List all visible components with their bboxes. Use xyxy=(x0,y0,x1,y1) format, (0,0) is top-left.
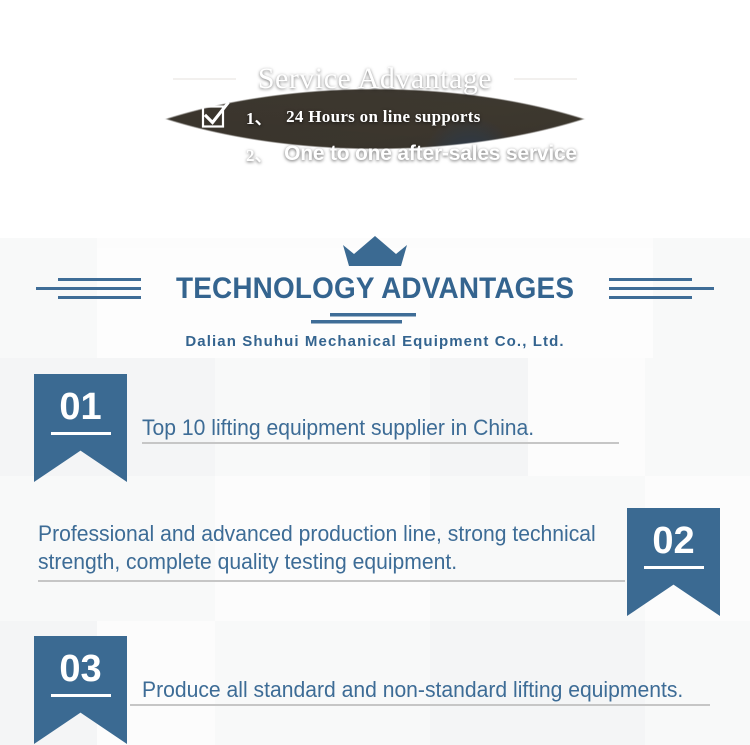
advantage-row: 03 Produce all standard and non-standard… xyxy=(0,628,750,745)
advantage-text: Professional and advanced production lin… xyxy=(38,520,614,576)
decoration-lines-left xyxy=(36,275,141,303)
banner-title: Service Advantage xyxy=(258,62,492,96)
list-item-marker: 1、 xyxy=(246,104,272,129)
advantage-underline xyxy=(38,580,625,582)
advantage-row: 01 Top 10 lifting equipment supplier in … xyxy=(0,368,750,488)
title-rule-left xyxy=(173,78,236,80)
ribbon-badge-03: 03 xyxy=(34,636,127,744)
service-advantage-list: 1、 24 Hours on line supports 2、 One to o… xyxy=(202,104,577,178)
list-item-marker: 2、 xyxy=(246,141,272,166)
advantage-underline xyxy=(142,442,619,444)
banner-title-row: Service Advantage xyxy=(0,62,750,96)
list-item: 1、 24 Hours on line supports xyxy=(202,104,577,129)
ribbon-divider xyxy=(51,432,111,435)
crown-icon xyxy=(0,236,750,268)
ribbon-badge-01: 01 xyxy=(34,374,127,482)
list-item-label: 24 Hours on line supports xyxy=(286,107,481,127)
advantage-text: Top 10 lifting equipment supplier in Chi… xyxy=(142,414,534,442)
ribbon-divider xyxy=(644,566,704,569)
ribbon-divider xyxy=(51,694,111,697)
promo-page: Service Advantage 1、 24 Hours on line su… xyxy=(0,0,750,745)
page-title: TECHNOLOGY ADVANTAGES xyxy=(176,272,574,306)
list-item: 2、 One to one after-sales service xyxy=(202,141,577,166)
advantage-row: 02 Professional and advanced production … xyxy=(0,498,750,618)
title-rule-right xyxy=(514,78,577,80)
title-underline xyxy=(0,312,750,326)
service-advantage-banner: Service Advantage 1、 24 Hours on line su… xyxy=(0,0,750,238)
checkbox-checked-icon xyxy=(202,142,226,165)
ribbon-number: 02 xyxy=(652,522,694,560)
checkbox-checked-icon xyxy=(202,105,226,128)
ribbon-badge-02: 02 xyxy=(627,508,720,616)
advantage-underline xyxy=(130,704,710,706)
decoration-lines-right xyxy=(609,275,714,303)
advantage-text: Produce all standard and non-standard li… xyxy=(142,676,683,704)
headline-block: TECHNOLOGY ADVANTAGES Dalian Shuhui Mech… xyxy=(0,236,750,350)
list-item-label: One to one after-sales service xyxy=(284,142,577,166)
headline-title-row: TECHNOLOGY ADVANTAGES xyxy=(0,272,750,306)
ribbon-number: 01 xyxy=(59,388,101,426)
company-name: Dalian Shuhui Mechanical Equipment Co., … xyxy=(0,333,750,350)
ribbon-number: 03 xyxy=(59,650,101,688)
